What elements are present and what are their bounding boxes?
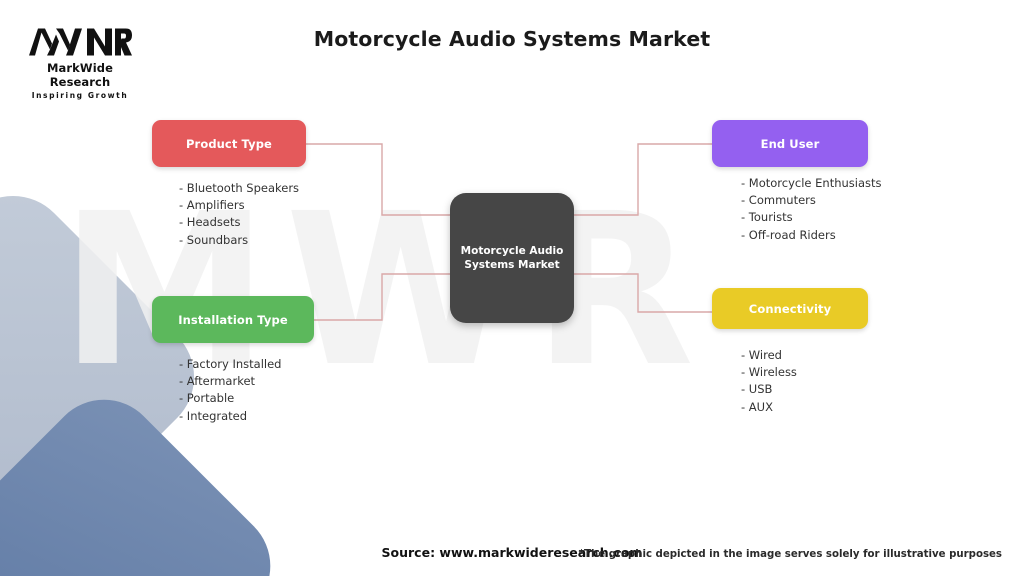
list-item: - Wired [741,347,868,364]
list-item: - Bluetooth Speakers [179,180,306,197]
branch-connectivity-list: - Wired - Wireless - USB - AUX [741,347,868,416]
branch-product-type: Product Type - Bluetooth Speakers - Ampl… [152,120,306,249]
list-item: - Tourists [741,209,882,226]
list-item: - Headsets [179,214,306,231]
list-item: - Portable [179,390,314,407]
connector-end-user [572,144,712,215]
list-item: - Commuters [741,192,882,209]
connector-installation-type [314,274,452,320]
branch-connectivity-chip[interactable]: Connectivity [712,288,868,329]
list-item: - Motorcycle Enthusiasts [741,175,882,192]
branch-installation-type: Installation Type - Factory Installed - … [152,296,314,425]
center-node[interactable]: Motorcycle Audio Systems Market [450,193,574,323]
list-item: - Off-road Riders [741,227,882,244]
disclaimer-text: *The graphic depicted in the image serve… [579,549,1002,560]
list-item: - AUX [741,399,868,416]
branch-connectivity: Connectivity - Wired - Wireless - USB - … [712,288,868,416]
center-node-label: Motorcycle Audio Systems Market [461,244,564,272]
list-item: - Wireless [741,364,868,381]
branch-end-user-label: End User [761,137,820,151]
branch-end-user-chip[interactable]: End User [712,120,868,167]
connector-connectivity [572,274,712,312]
infographic-canvas: MWR MarkWide Research Inspiring Growth M… [0,0,1024,576]
branch-product-type-list: - Bluetooth Speakers - Amplifiers - Head… [179,180,306,249]
list-item: - Soundbars [179,232,306,249]
branch-installation-type-chip[interactable]: Installation Type [152,296,314,343]
branch-installation-type-label: Installation Type [178,313,287,327]
branch-installation-type-list: - Factory Installed - Aftermarket - Port… [179,356,314,425]
list-item: - Amplifiers [179,197,306,214]
list-item: - Integrated [179,408,314,425]
connector-product-type [306,144,452,215]
list-item: - Aftermarket [179,373,314,390]
branch-connectivity-label: Connectivity [749,302,831,316]
branch-end-user-list: - Motorcycle Enthusiasts - Commuters - T… [741,175,882,244]
list-item: - USB [741,381,868,398]
center-node-line-2: Systems Market [464,259,559,271]
branch-product-type-chip[interactable]: Product Type [152,120,306,167]
branch-product-type-label: Product Type [186,137,272,151]
center-node-line-1: Motorcycle Audio [461,245,564,257]
branch-end-user: End User - Motorcycle Enthusiasts - Comm… [712,120,882,244]
list-item: - Factory Installed [179,356,314,373]
